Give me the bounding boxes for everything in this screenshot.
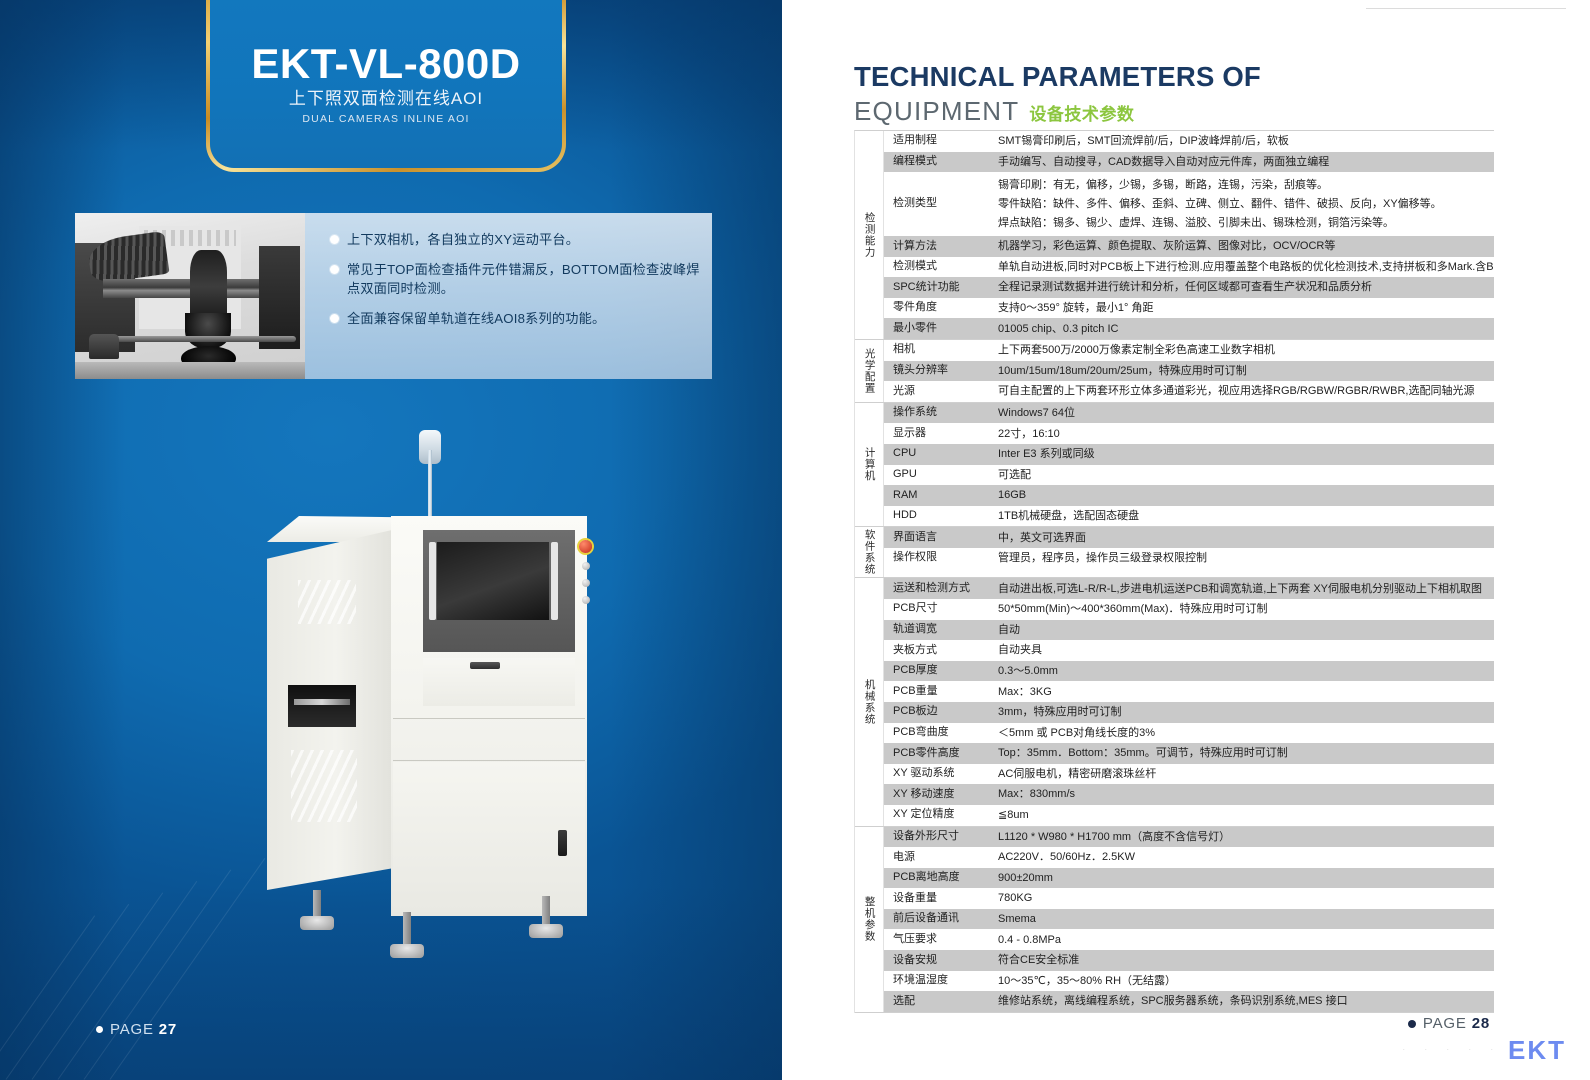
machine-foot-stem: [403, 912, 411, 948]
spec-key: XY 移动速度: [884, 784, 989, 805]
spec-value: Smema: [989, 909, 1494, 930]
spec-value: 50*50mm(Min)～400*360mm(Max)．特殊应用时可订制: [989, 599, 1494, 620]
spec-value: 锡膏印刷：有无，偏移，少锡，多锡，断路，连锡，污染，刮痕等。零件缺陷：缺件、多件…: [989, 172, 1494, 236]
table-row: HDD1TB机械硬盘，选配固态硬盘: [884, 506, 1494, 527]
heading-secondary-cn: 设备技术参数: [1029, 100, 1134, 125]
table-row: 编程模式手动编写、自动搜寻，CAD数据导入自动对应元件库，两面独立编程: [884, 152, 1494, 173]
spec-key: 适用制程: [884, 131, 989, 152]
spec-value: AC220V．50/60Hz．2.5KW: [989, 847, 1494, 868]
spec-value: 自动: [989, 620, 1494, 641]
spec-key: 操作权限: [884, 548, 989, 569]
spec-value: ≦8um: [989, 805, 1494, 826]
spec-key: 轨道调宽: [884, 620, 989, 641]
product-subtitle-en: DUAL CAMERAS INLINE AOI: [302, 113, 469, 125]
spec-value: 单轨自动进板,同时对PCB板上下进行检测.应用覆盖整个电路板的优化检测技术,支持…: [989, 257, 1494, 278]
spec-value: 780KG: [989, 888, 1494, 909]
spec-value: 手动编写、自动搜寻，CAD数据导入自动对应元件库，两面独立编程: [989, 152, 1494, 173]
spec-value: 支持0～359° 旋转，最小1° 角距: [989, 298, 1494, 319]
page-footer-left: PAGE 27: [96, 1021, 177, 1038]
spec-key: 运送和检测方式: [884, 578, 989, 599]
spec-key: 光源: [884, 381, 989, 402]
spec-key: 设备外形尺寸: [884, 827, 989, 848]
spec-group-label: 机械系统: [855, 578, 884, 825]
spec-key: 镜头分辨率: [884, 361, 989, 382]
spec-group-label: 计算机: [855, 403, 884, 527]
machine-drawer-handle: [470, 662, 500, 669]
decorative-diagonal-lines-right: [1292, 930, 1502, 1050]
spec-value: SMT锡膏印刷后，SMT回流焊前/后，DIP波峰焊前/后，软板: [989, 131, 1494, 152]
machine-foot: [300, 916, 334, 930]
machine-side-vents-lower: [291, 750, 357, 822]
photo-lower-rail: [98, 336, 296, 343]
spec-key: 选配: [884, 991, 989, 1012]
spec-key: 显示器: [884, 423, 989, 444]
table-row: 电源AC220V．50/60Hz．2.5KW: [884, 847, 1494, 868]
spec-value: 全程记录测试数据并进行统计和分析，任何区域都可查看生产状况和品质分析: [989, 277, 1494, 298]
spec-value: Max：3KG: [989, 681, 1494, 702]
photo-camera-head: [190, 250, 227, 323]
photo-cup-part: [89, 334, 119, 359]
bullet-dot-icon: [330, 265, 339, 274]
table-row: 计算方法机器学习，彩色运算、颜色提取、灰阶运算、图像对比，OCV/OCR等: [884, 236, 1494, 257]
spec-key: 相机: [884, 340, 989, 361]
emergency-stop-button: [579, 540, 592, 553]
brochure-spread: EKT-VL-800D 上下照双面检测在线AOI DUAL CAMERAS IN…: [0, 0, 1590, 1080]
spec-value: 900±20mm: [989, 868, 1494, 889]
spec-value: 22寸，16:10: [989, 423, 1494, 444]
machine-door-handle-left: [429, 542, 436, 620]
table-row: PCB零件高度Top：35mm．Bottom：35mm。可调节，特殊应用时可订制: [884, 743, 1494, 764]
spec-key: 检测类型: [884, 172, 989, 236]
spec-group: 计算机操作系统Windows7 64位显示器22寸，16:10CPUInter …: [855, 403, 1494, 528]
spec-key: 电源: [884, 847, 989, 868]
spec-key: 操作系统: [884, 403, 989, 424]
spec-value-line: 焊点缺陷：锡多、锡少、虚焊、连锡、溢胶、引脚未出、锡珠检测，铜箔污染等。: [998, 214, 1394, 233]
spec-key: 计算方法: [884, 236, 989, 257]
spec-group: 检测能力适用制程SMT锡膏印刷后，SMT回流焊前/后，DIP波峰焊前/后，软板编…: [855, 131, 1494, 340]
spec-value: 可选配: [989, 465, 1494, 486]
table-row: PCB尺寸50*50mm(Min)～400*360mm(Max)．特殊应用时可订…: [884, 599, 1494, 620]
page-footer-right: PAGE 28: [1408, 1015, 1490, 1032]
heading-primary: TECHNICAL PARAMETERS OF: [854, 62, 1261, 92]
signal-lamp-pole: [428, 450, 432, 518]
table-row: 显示器22寸，16:10: [884, 423, 1494, 444]
spec-key: RAM: [884, 485, 989, 506]
footer-page-number: 27: [159, 1021, 177, 1038]
list-item: 上下双相机，各自独立的XY运动平台。: [330, 230, 702, 249]
plaque-inner: EKT-VL-800D 上下照双面检测在线AOI DUAL CAMERAS IN…: [210, 0, 562, 168]
decorative-top-line: [1366, 8, 1566, 9]
spec-value: 自动进出板,可选L-R/R-L,步进电机运送PCB和调宽轨道,上下两套 XY伺服…: [989, 578, 1494, 599]
table-row: 轨道调宽自动: [884, 620, 1494, 641]
spec-group-label: 检测能力: [855, 131, 884, 339]
spec-key: HDD: [884, 506, 989, 527]
spec-key: 环境温湿度: [884, 971, 989, 992]
photo-right-module: [259, 246, 300, 349]
spec-value: Top：35mm．Bottom：35mm。可调节，特殊应用时可订制: [989, 743, 1494, 764]
table-row: 操作系统Windows7 64位: [884, 403, 1494, 424]
table-row: PCB弯曲度＜5mm 或 PCB对角线长度的3%: [884, 723, 1494, 744]
table-row: 检测模式单轨自动进板,同时对PCB板上下进行检测.应用覆盖整个电路板的优化检测技…: [884, 257, 1494, 278]
spec-value: Max：830mm/s: [989, 784, 1494, 805]
table-row: 界面语言中，英文可选界面: [884, 527, 1494, 548]
machine-foot: [529, 924, 563, 938]
table-row: 检测类型锡膏印刷：有无，偏移，少锡，多锡，断路，连锡，污染，刮痕等。零件缺陷：缺…: [884, 172, 1494, 236]
footer-page-number: 28: [1472, 1015, 1490, 1032]
spec-group: 机械系统运送和检测方式自动进出板,可选L-R/R-L,步进电机运送PCB和调宽轨…: [855, 578, 1494, 826]
spec-key: 设备安规: [884, 950, 989, 971]
spec-key: GPU: [884, 465, 989, 486]
brand-logo: EKT: [1508, 1035, 1566, 1066]
heading-secondary-row: EQUIPMENT 设备技术参数: [854, 96, 1261, 127]
spec-group-rows: 适用制程SMT锡膏印刷后，SMT回流焊前/后，DIP波峰焊前/后，软板编程模式手…: [884, 131, 1494, 339]
table-row: 运送和检测方式自动进出板,可选L-R/R-L,步进电机运送PCB和调宽轨道,上下…: [884, 578, 1494, 599]
spec-value: 10um/15um/18um/20um/25um，特殊应用时可订制: [989, 361, 1494, 382]
table-row: 适用制程SMT锡膏印刷后，SMT回流焊前/后，DIP波峰焊前/后，软板: [884, 131, 1494, 152]
photo-lens: [185, 313, 231, 350]
table-row: XY 移动速度Max：830mm/s: [884, 784, 1494, 805]
spec-group-label: 光学配置: [855, 340, 884, 402]
machine-product-photo: [243, 430, 643, 990]
machine-lower-door: [393, 762, 585, 912]
spec-key: PCB零件高度: [884, 743, 989, 764]
machine-foot: [390, 944, 424, 958]
spec-key: CPU: [884, 444, 989, 465]
table-row: 前后设备通讯Smema: [884, 909, 1494, 930]
spec-key: SPC统计功能: [884, 277, 989, 298]
spec-group-label-text: 软件系统: [863, 529, 874, 575]
table-row: 光源可自主配置的上下两套环形立体多通道彩光，视应用选择RGB/RGBW/RGBR…: [884, 381, 1494, 402]
left-page: EKT-VL-800D 上下照双面检测在线AOI DUAL CAMERAS IN…: [0, 0, 782, 1080]
spec-value: 中，英文可选界面: [989, 527, 1494, 548]
list-item: 常见于TOP面检查插件元件错漏反，BOTTOM面检查波峰焊点双面同时检测。: [330, 260, 702, 298]
spec-group-rows: 操作系统Windows7 64位显示器22寸，16:10CPUInter E3 …: [884, 403, 1494, 527]
machine-interior-photo: [75, 213, 305, 379]
spec-value: ＜5mm 或 PCB对角线长度的3%: [989, 723, 1494, 744]
spec-value: 16GB: [989, 485, 1494, 506]
spec-value: 上下两套500万/2000万像素定制全彩色高速工业数字相机: [989, 340, 1494, 361]
spec-value: 0.3～5.0mm: [989, 661, 1494, 682]
table-row: PCB离地高度900±20mm: [884, 868, 1494, 889]
spec-group-label-text: 机械系统: [863, 679, 874, 725]
spec-key: PCB厚度: [884, 661, 989, 682]
machine-door-handle-right: [551, 542, 558, 620]
spec-value: Windows7 64位: [989, 403, 1494, 424]
page-title: TECHNICAL PARAMETERS OF EQUIPMENT 设备技术参数: [854, 62, 1261, 127]
machine-panel-seam: [393, 718, 585, 719]
spec-key: 夹板方式: [884, 640, 989, 661]
spec-group-rows: 相机上下两套500万/2000万像素定制全彩色高速工业数字相机镜头分辨率10um…: [884, 340, 1494, 402]
table-row: 操作权限管理员，程序员，操作员三级登录权限控制: [884, 548, 1494, 569]
spec-key: PCB离地高度: [884, 868, 989, 889]
spec-key: PCB尺寸: [884, 599, 989, 620]
spec-value: AC伺服电机，精密研磨滚珠丝杆: [989, 764, 1494, 785]
machine-monitor-screen: [437, 542, 549, 620]
spec-key: PCB弯曲度: [884, 723, 989, 744]
spec-value: Inter E3 系列或同级: [989, 444, 1494, 465]
spec-group-rows: 界面语言中，英文可选界面操作权限管理员，程序员，操作员三级登录权限控制: [884, 527, 1494, 577]
machine-control-buttons: [582, 562, 590, 613]
spec-key: 最小零件: [884, 318, 989, 339]
spec-value: 01005 chip、0.3 pitch IC: [989, 318, 1494, 339]
product-subtitle-cn: 上下照双面检测在线AOI: [289, 89, 483, 109]
feature-text: 常见于TOP面检查插件元件错漏反，BOTTOM面检查波峰焊点双面同时检测。: [347, 260, 702, 298]
table-row: 相机上下两套500万/2000万像素定制全彩色高速工业数字相机: [884, 340, 1494, 361]
table-row: PCB厚度0.3～5.0mm: [884, 661, 1494, 682]
spec-group-label-text: 计算机: [863, 447, 874, 482]
table-row: CPUInter E3 系列或同级: [884, 444, 1494, 465]
spec-group-label-text: 整机参数: [863, 896, 874, 942]
table-row: 夹板方式自动夹具: [884, 640, 1494, 661]
spec-key: PCB板边: [884, 702, 989, 723]
table-row: 镜头分辨率10um/15um/18um/20um/25um，特殊应用时可订制: [884, 361, 1494, 382]
feature-list: 上下双相机，各自独立的XY运动平台。 常见于TOP面检查插件元件错漏反，BOTT…: [330, 230, 702, 340]
footer-dot-icon: [1408, 1020, 1416, 1028]
machine-door-lock: [558, 830, 567, 856]
spec-group-label: 整机参数: [855, 827, 884, 1012]
spec-key: XY 定位精度: [884, 805, 989, 826]
table-row: GPU可选配: [884, 465, 1494, 486]
spec-key: 气压要求: [884, 929, 989, 950]
spec-key: 前后设备通讯: [884, 909, 989, 930]
spec-value: 自动夹具: [989, 640, 1494, 661]
spec-key: 设备重量: [884, 888, 989, 909]
spec-value-line: 零件缺陷：缺件、多件、偏移、歪斜、立碑、侧立、翻件、错件、破损、反向，XY偏移等…: [998, 194, 1442, 213]
bullet-dot-icon: [330, 314, 339, 323]
product-title: EKT-VL-800D: [251, 43, 520, 85]
spec-value: 机器学习，彩色运算、颜色提取、灰阶运算、图像对比，OCV/OCR等: [989, 236, 1494, 257]
spec-key: XY 驱动系统: [884, 764, 989, 785]
table-row: 零件角度支持0～359° 旋转，最小1° 角距: [884, 298, 1494, 319]
spec-value: 1TB机械硬盘，选配固态硬盘: [989, 506, 1494, 527]
machine-side-vents-upper: [298, 580, 356, 624]
spec-key: 编程模式: [884, 152, 989, 173]
table-row: XY 定位精度≦8um: [884, 805, 1494, 826]
footer-page-label: PAGE: [110, 1021, 154, 1038]
machine-panel-seam: [393, 760, 585, 761]
spec-group-rows: 运送和检测方式自动进出板,可选L-R/R-L,步进电机运送PCB和调宽轨道,上下…: [884, 578, 1494, 825]
machine-conveyor-slot: [288, 685, 356, 727]
product-title-plaque: EKT-VL-800D 上下照双面检测在线AOI DUAL CAMERAS IN…: [206, 0, 566, 172]
list-item: 全面兼容保留单轨道在线AOI8系列的功能。: [330, 309, 702, 328]
spec-value-line: 锡膏印刷：有无，偏移，少锡，多锡，断路，连锡，污染，刮痕等。: [998, 175, 1328, 194]
spec-group-label: 软件系统: [855, 527, 884, 577]
right-page: TECHNICAL PARAMETERS OF EQUIPMENT 设备技术参数…: [782, 0, 1590, 1080]
spec-group: 软件系统界面语言中，英文可选界面操作权限管理员，程序员，操作员三级登录权限控制: [855, 527, 1494, 578]
spec-value: 管理员，程序员，操作员三级登录权限控制: [989, 548, 1494, 569]
specifications-table: 检测能力适用制程SMT锡膏印刷后，SMT回流焊前/后，DIP波峰焊前/后，软板编…: [854, 130, 1494, 1013]
spec-value: L1120 * W980 * H1700 mm（高度不含信号灯）: [989, 827, 1494, 848]
table-row: XY 驱动系统AC伺服电机，精密研磨滚珠丝杆: [884, 764, 1494, 785]
table-row: RAM16GB: [884, 485, 1494, 506]
spec-key: 零件角度: [884, 298, 989, 319]
spec-value: 可自主配置的上下两套环形立体多通道彩光，视应用选择RGB/RGBW/RGBR/R…: [989, 381, 1494, 402]
spec-group-label-text: 光学配置: [863, 348, 874, 394]
spec-group-label-text: 检测能力: [863, 212, 874, 258]
spec-key: 界面语言: [884, 527, 989, 548]
table-row: PCB板边3mm，特殊应用时可订制: [884, 702, 1494, 723]
table-row: 设备重量780KG: [884, 888, 1494, 909]
table-row: SPC统计功能全程记录测试数据并进行统计和分析，任何区域都可查看生产状况和品质分…: [884, 277, 1494, 298]
bullet-dot-icon: [330, 235, 339, 244]
photo-base: [75, 362, 305, 379]
table-row: 设备外形尺寸L1120 * W980 * H1700 mm（高度不含信号灯）: [884, 827, 1494, 848]
table-row: PCB重量Max：3KG: [884, 681, 1494, 702]
spec-value: 3mm，特殊应用时可订制: [989, 702, 1494, 723]
heading-secondary-en: EQUIPMENT: [854, 96, 1019, 127]
footer-dot-icon: [96, 1026, 103, 1033]
feature-text: 上下双相机，各自独立的XY运动平台。: [347, 230, 579, 249]
footer-page-label: PAGE: [1423, 1015, 1467, 1032]
table-row: 最小零件01005 chip、0.3 pitch IC: [884, 318, 1494, 339]
spec-key: PCB重量: [884, 681, 989, 702]
spec-key: 检测模式: [884, 257, 989, 278]
spec-group: 光学配置相机上下两套500万/2000万像素定制全彩色高速工业数字相机镜头分辨率…: [855, 340, 1494, 403]
feature-text: 全面兼容保留单轨道在线AOI8系列的功能。: [347, 309, 605, 328]
